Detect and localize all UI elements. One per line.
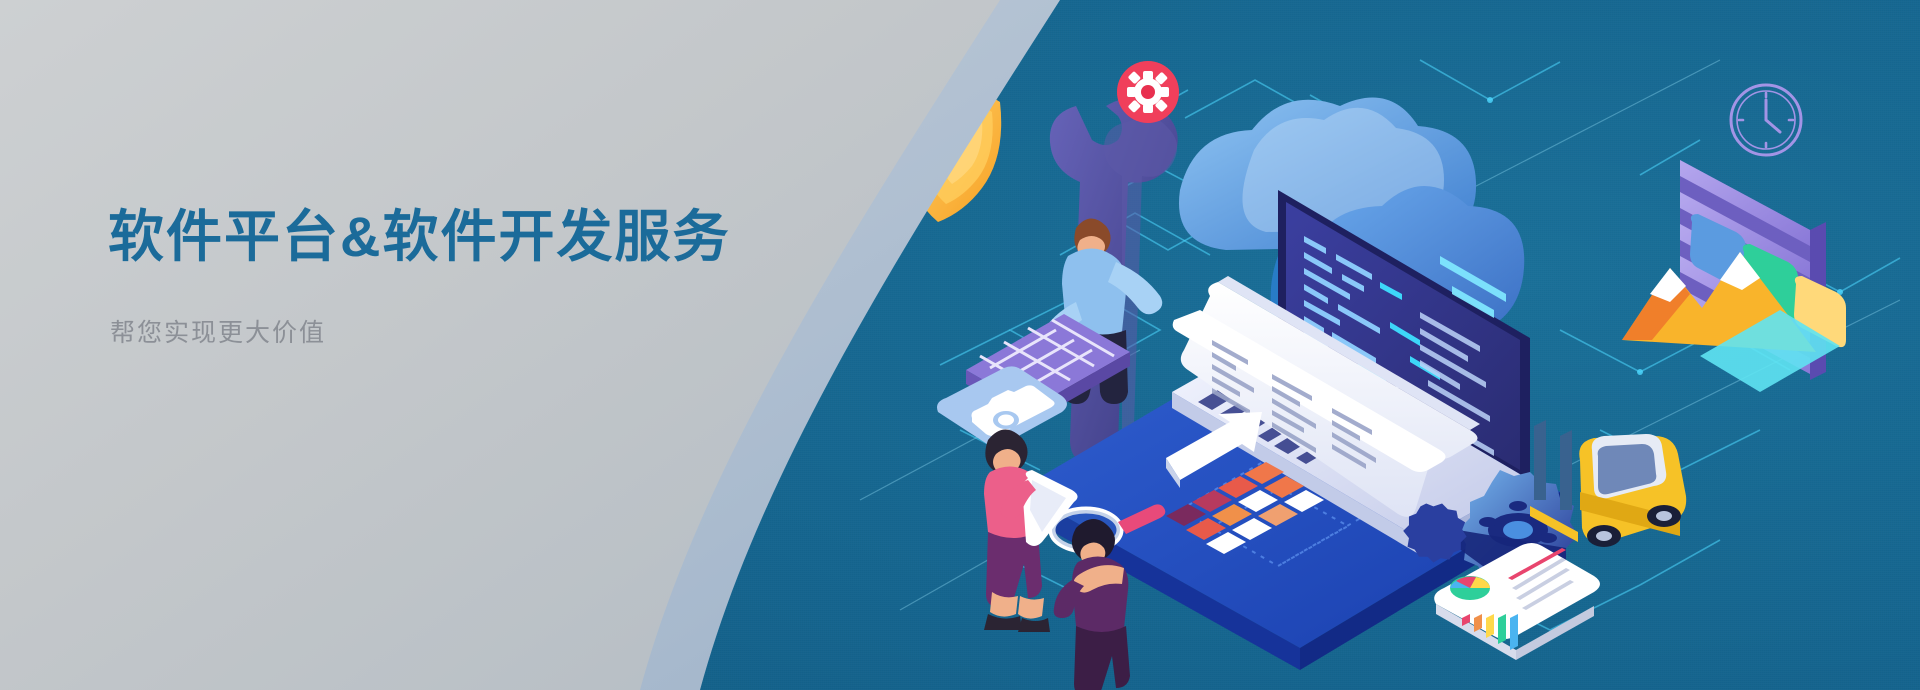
forklift-vehicle (1530, 420, 1686, 547)
clock-icon (1731, 85, 1801, 155)
page-subtitle: 帮您实现更大价值 (110, 313, 868, 349)
gear-badge-icon (1117, 61, 1179, 123)
page-title: 软件平台&软件开发服务 (108, 205, 868, 269)
hero-copy: 软件平台&软件开发服务 帮您实现更大价值 (108, 205, 868, 349)
hero-banner: 软件平台&软件开发服务 帮您实现更大价值 (0, 0, 1920, 690)
